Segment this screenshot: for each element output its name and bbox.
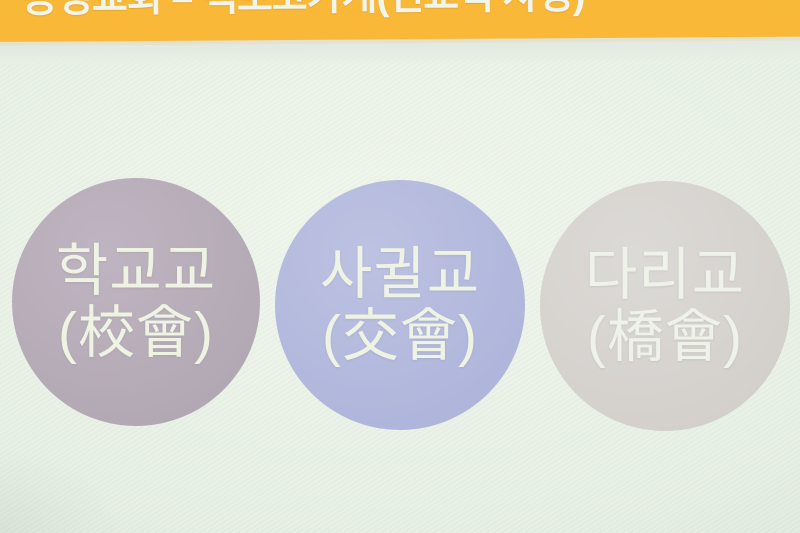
circle-label-korean: 사귈교 xyxy=(320,244,480,304)
circle-fellowship-church: 사귈교 (交會) xyxy=(275,180,525,430)
circle-bridge-church: 다리교 (橋會) xyxy=(540,181,790,431)
presentation-slide: 공명교회 – 책보고가게(선교적 사명) 학교교 (校會) 사귈교 (交會) 다… xyxy=(0,0,800,533)
concept-circle-group: 학교교 (校會) 사귈교 (交會) 다리교 (橋會) xyxy=(0,0,800,533)
circle-label-hanja: (交會) xyxy=(322,306,478,366)
circle-label-hanja: (校會) xyxy=(58,303,214,363)
circle-school-church: 학교교 (校會) xyxy=(12,178,260,426)
circle-label-korean: 학교교 xyxy=(56,241,216,301)
circle-label-hanja: (橋會) xyxy=(587,307,743,367)
circle-label-korean: 다리교 xyxy=(585,245,745,305)
